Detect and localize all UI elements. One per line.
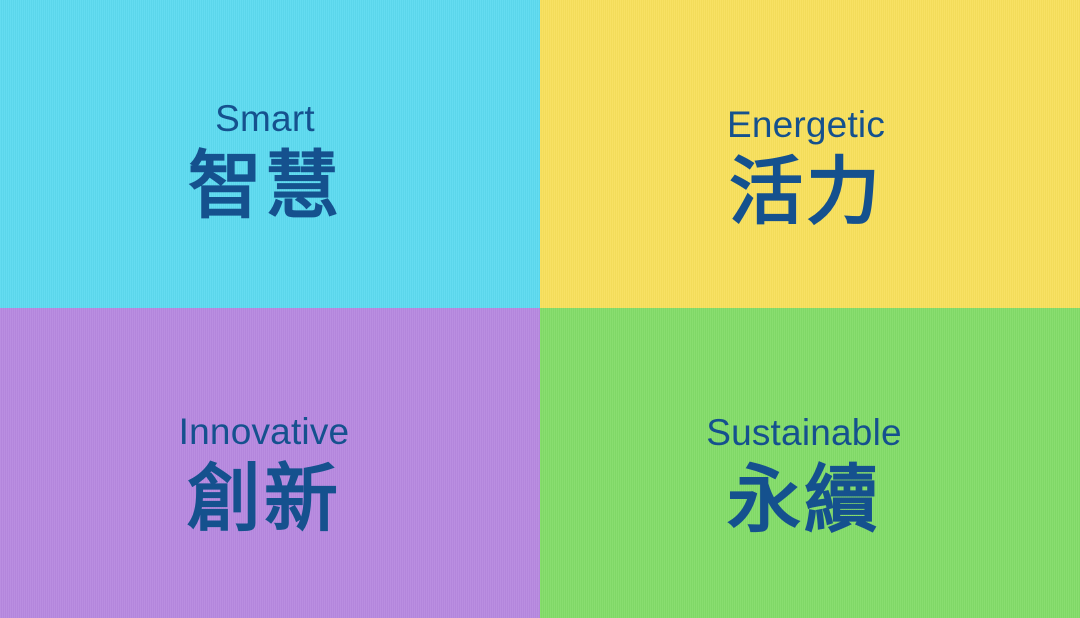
quadrant-innovative-label-zh: 創新 [187,458,341,541]
quadrant-sustainable-label-zh: 永續 [727,459,881,542]
quadrant-smart-label-zh: 智慧 [188,145,342,228]
quadrant-innovative: Innovative 創新 [0,308,540,618]
quadrant-innovative-content: Innovative 創新 [179,413,350,541]
quadrant-smart-label-en: Smart [215,100,315,139]
value-grid: Smart 智慧 Energetic 活力 Innovative 創新 Sust… [0,0,1080,618]
quadrant-energetic: Energetic 活力 [540,0,1080,308]
quadrant-smart-content: Smart 智慧 [188,100,342,228]
brand-values-poster: Smart 智慧 Energetic 活力 Innovative 創新 Sust… [0,0,1080,618]
quadrant-sustainable-label-en: Sustainable [706,414,902,453]
quadrant-energetic-label-zh: 活力 [729,151,883,234]
quadrant-smart: Smart 智慧 [0,0,540,308]
quadrant-energetic-label-en: Energetic [727,106,885,145]
quadrant-sustainable-content: Sustainable 永續 [706,414,902,542]
quadrant-energetic-content: Energetic 活力 [727,106,885,234]
quadrant-sustainable: Sustainable 永續 [540,308,1080,618]
quadrant-innovative-label-en: Innovative [179,413,350,452]
